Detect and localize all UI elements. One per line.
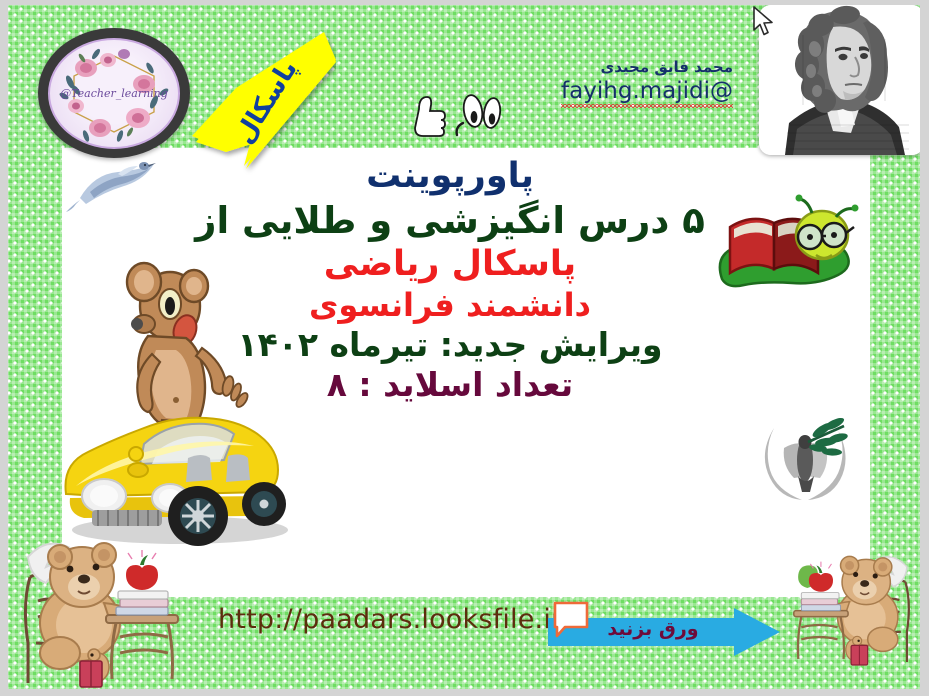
- slide-top-border: [0, 0, 929, 5]
- author-info: محمد فایق مجیدی fayihg.majidi@: [561, 58, 733, 104]
- flying-bird-icon: [60, 152, 160, 214]
- title-line-2: ۵ درس انگیزشی و طلایی از: [150, 198, 750, 243]
- logo-inner-disc: @Teacher_learning: [48, 38, 180, 149]
- teddy-bear-desk-right: [790, 520, 922, 690]
- logo-handle-text: @Teacher_learning: [60, 87, 168, 100]
- author-name: محمد فایق مجیدی: [561, 58, 733, 76]
- author-email: fayihg.majidi@: [561, 78, 733, 104]
- presentation-slide: @Teacher_learning پاسکال محمد فایق مجیدی…: [0, 0, 929, 696]
- teacher-learning-logo: @Teacher_learning: [38, 28, 190, 158]
- pascal-ribbon-banner: پاسکال: [186, 24, 336, 184]
- speech-bubble-icon: [552, 600, 590, 640]
- dove-with-olive-branch-icon: [760, 412, 850, 504]
- mouse-cursor-icon: [752, 6, 776, 38]
- thumbs-up-and-eyes-icon: [405, 85, 510, 145]
- pascal-portrait-frame: [759, 5, 924, 155]
- bookworm-reading-icon: [700, 193, 860, 301]
- teddy-bear-desk-left: [8, 525, 183, 690]
- next-slide-label: ورق بزنید: [568, 618, 738, 640]
- pascal-portrait-image: [759, 5, 924, 155]
- slide-bottom-border: [0, 689, 929, 696]
- mouse-in-yellow-convertible-icon: [52, 258, 290, 548]
- website-url[interactable]: http://paadars.looksfile.ir: [218, 604, 562, 635]
- author-email-text: fayihg.majidi@: [561, 78, 733, 104]
